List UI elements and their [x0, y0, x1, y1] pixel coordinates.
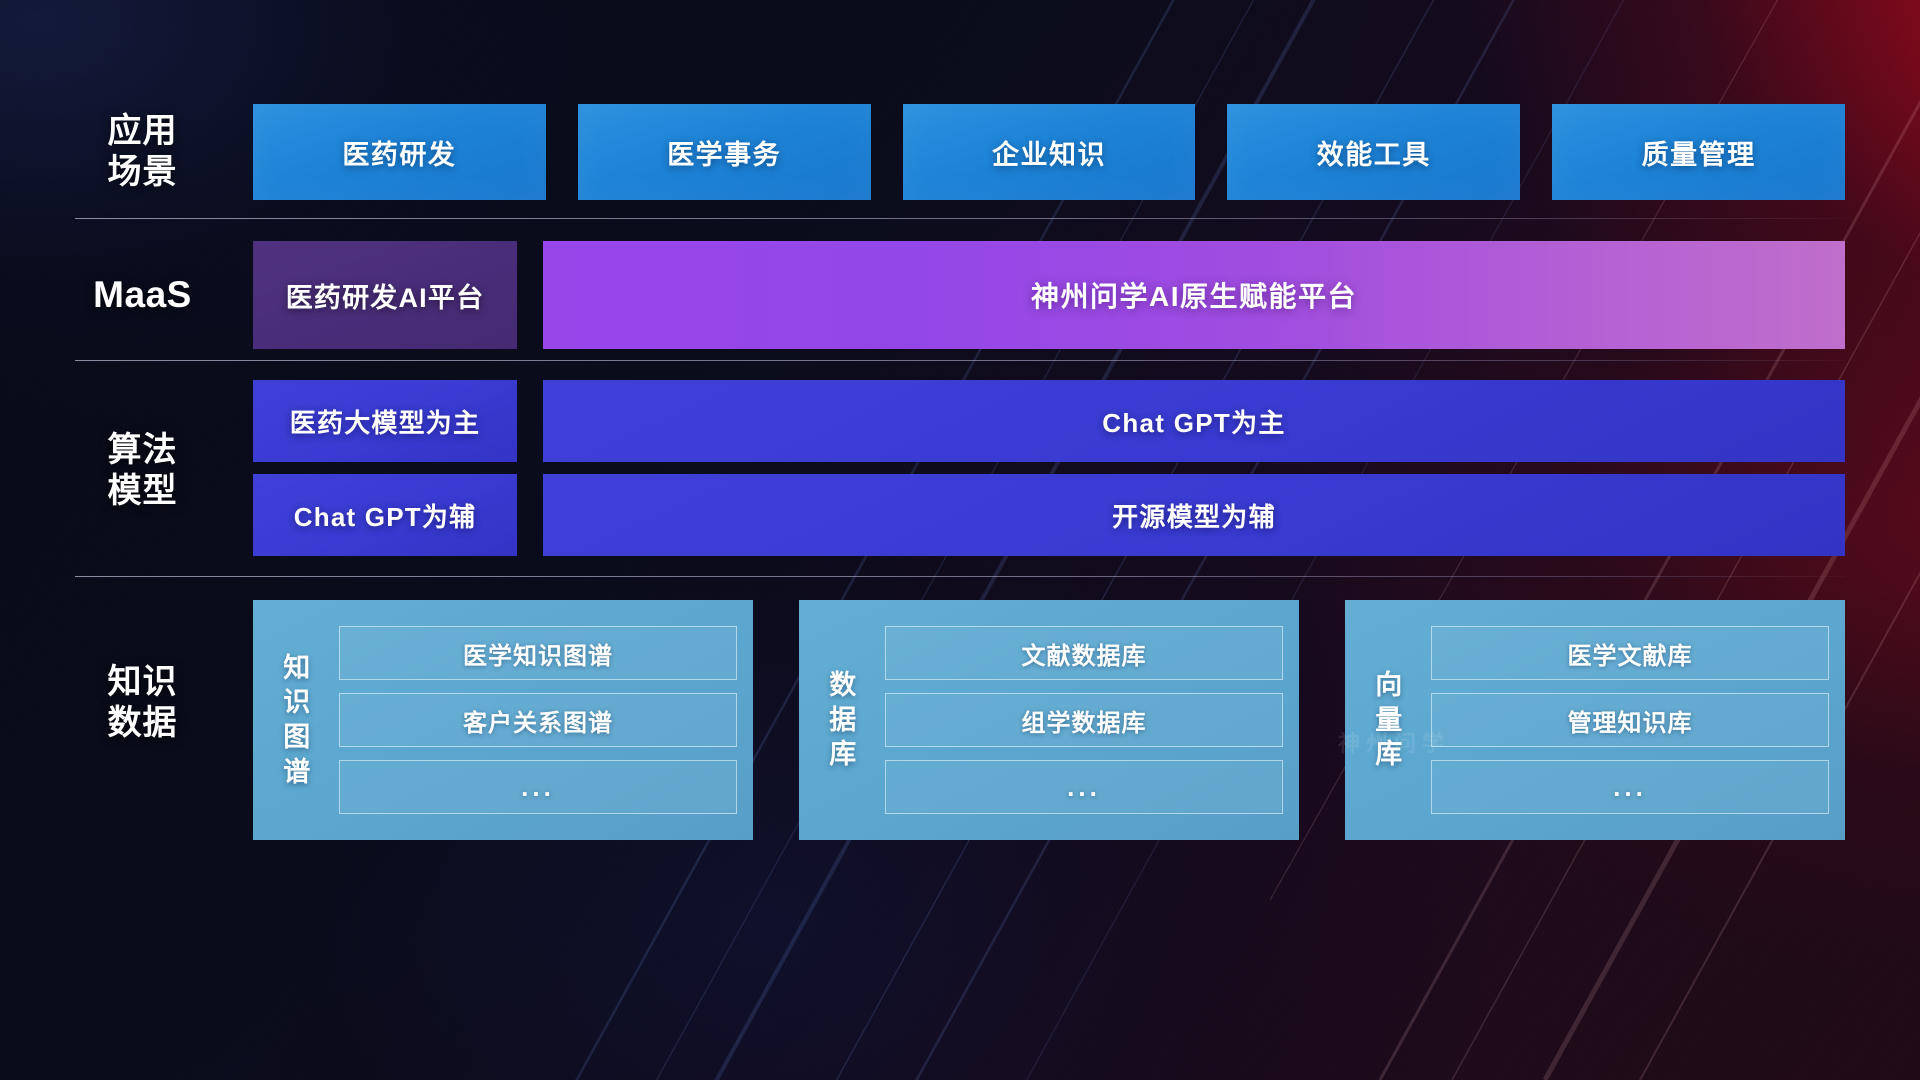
app-card-medicine-rd[interactable]: 医药研发	[253, 104, 546, 200]
row-application-scenarios: 应用 场景 医药研发 医学事务 企业知识 效能工具 质量管理	[75, 102, 1845, 202]
row-label-maas: MaaS	[75, 272, 210, 317]
knowledge-group-items-knowledge-graph: 医学知识图谱 客户关系图谱 ...	[339, 614, 737, 826]
knowledge-item-more-vector-store[interactable]: ...	[1431, 760, 1829, 814]
app-card-efficiency-tools[interactable]: 效能工具	[1227, 104, 1520, 200]
row-knowledge-data: 知识 数据 知识图谱 医学知识图谱 客户关系图谱 ... 数据库 文献数据库	[75, 600, 1845, 840]
row-label-line-2: 模型	[75, 471, 210, 512]
knowledge-group-title-knowledge-graph: 知识图谱	[271, 614, 323, 826]
knowledge-group-vector-store: 向量库 医学文献库 管理知识库 ...	[1345, 600, 1845, 840]
row-label-line-1: 知识	[75, 662, 210, 703]
row-maas: MaaS 医药研发AI平台 神州问学AI原生赋能平台	[75, 240, 1845, 350]
maas-cards: 医药研发AI平台 神州问学AI原生赋能平台	[253, 241, 1845, 349]
row-label-application-scenarios: 应用 场景	[75, 111, 210, 194]
algo-card-chatgpt-primary[interactable]: Chat GPT为主	[543, 380, 1845, 462]
knowledge-group-items-database: 文献数据库 组学数据库 ...	[885, 614, 1283, 826]
knowledge-group-title-char: 向	[1375, 668, 1403, 703]
divider-apps-maas	[75, 218, 1845, 219]
knowledge-group-title-char: 量	[1375, 703, 1403, 738]
algo-card-pharma-llm-primary[interactable]: 医药大模型为主	[253, 380, 517, 462]
diagram-canvas: 应用 场景 医药研发 医学事务 企业知识 效能工具 质量管理 MaaS 医药研发…	[0, 0, 1920, 1080]
knowledge-group-title-vector-store: 向量库	[1363, 614, 1415, 826]
knowledge-item-literature-database[interactable]: 文献数据库	[885, 626, 1283, 680]
algo-card-opensource-secondary[interactable]: 开源模型为辅	[543, 474, 1845, 556]
knowledge-item-medical-knowledge-graph[interactable]: 医学知识图谱	[339, 626, 737, 680]
row-label-line-1: 算法	[75, 430, 210, 471]
knowledge-group-title-char: 谱	[283, 755, 311, 790]
row-label-line-2: 场景	[75, 152, 210, 193]
knowledge-item-customer-relation-graph[interactable]: 客户关系图谱	[339, 693, 737, 747]
knowledge-group-title-database: 数据库	[817, 614, 869, 826]
knowledge-data-groups: 知识图谱 医学知识图谱 客户关系图谱 ... 数据库 文献数据库 组学数据库 .…	[253, 600, 1845, 840]
app-card-enterprise-knowledge[interactable]: 企业知识	[903, 104, 1196, 200]
knowledge-group-title-char: 图	[283, 720, 311, 755]
divider-algorithm-knowledge	[75, 576, 1845, 577]
knowledge-group-title-char: 知	[283, 651, 311, 686]
row-label-knowledge-data: 知识 数据	[75, 662, 210, 745]
algo-card-chatgpt-secondary[interactable]: Chat GPT为辅	[253, 474, 517, 556]
knowledge-item-omics-database[interactable]: 组学数据库	[885, 693, 1283, 747]
knowledge-group-knowledge-graph: 知识图谱 医学知识图谱 客户关系图谱 ...	[253, 600, 753, 840]
maas-card-pharma-ai-platform[interactable]: 医药研发AI平台	[253, 241, 517, 349]
app-card-medical-affairs[interactable]: 医学事务	[578, 104, 871, 200]
row-label-line-2: 数据	[75, 703, 210, 744]
algorithm-line-primary: 医药大模型为主 Chat GPT为主	[253, 380, 1845, 462]
application-scenario-cards: 医药研发 医学事务 企业知识 效能工具 质量管理	[253, 104, 1845, 200]
algorithm-line-secondary: Chat GPT为辅 开源模型为辅	[253, 474, 1845, 556]
maas-card-shenzhou-wenxue-platform[interactable]: 神州问学AI原生赋能平台	[543, 241, 1845, 349]
knowledge-group-items-vector-store: 医学文献库 管理知识库 ...	[1431, 614, 1829, 826]
knowledge-group-title-char: 据	[829, 703, 857, 738]
divider-maas-algorithm	[75, 360, 1845, 361]
knowledge-item-more-knowledge-graph[interactable]: ...	[339, 760, 737, 814]
knowledge-group-title-char: 识	[283, 685, 311, 720]
knowledge-group-title-char: 库	[1375, 737, 1403, 772]
knowledge-item-management-knowledge-store[interactable]: 管理知识库	[1431, 693, 1829, 747]
row-label-algorithm-models: 算法 模型	[75, 430, 210, 513]
algorithm-model-lines: 医药大模型为主 Chat GPT为主 Chat GPT为辅 开源模型为辅	[253, 380, 1845, 556]
knowledge-group-title-char: 库	[829, 737, 857, 772]
knowledge-item-more-database[interactable]: ...	[885, 760, 1283, 814]
knowledge-item-medical-literature-store[interactable]: 医学文献库	[1431, 626, 1829, 680]
knowledge-group-database: 数据库 文献数据库 组学数据库 ...	[799, 600, 1299, 840]
knowledge-group-title-char: 数	[829, 668, 857, 703]
row-algorithm-models: 算法 模型 医药大模型为主 Chat GPT为主 Chat GPT为辅 开源模型…	[75, 380, 1845, 560]
app-card-quality-management[interactable]: 质量管理	[1552, 104, 1845, 200]
row-label-line-1: 应用	[75, 111, 210, 152]
